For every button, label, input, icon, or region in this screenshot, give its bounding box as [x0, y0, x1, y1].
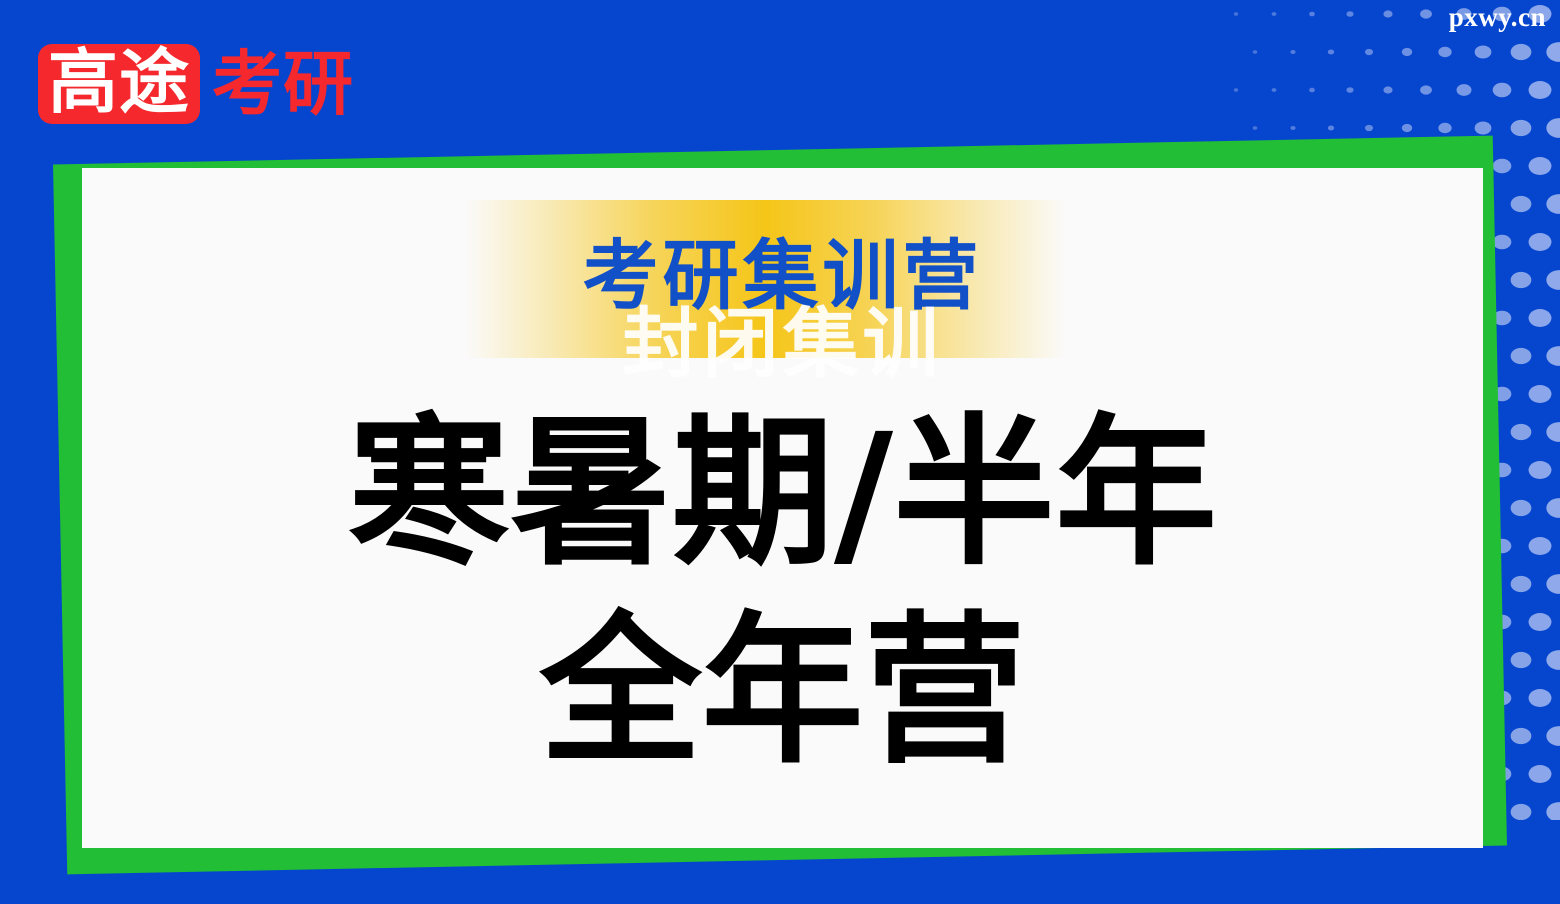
headline-block: 寒暑期/半年 全年营	[82, 396, 1483, 791]
brand-badge: 高途	[38, 44, 200, 124]
headline-line-2: 全年营	[82, 594, 1483, 792]
ghost-echo-title: 封闭集训	[82, 306, 1483, 382]
brand-word-label: 考研	[212, 51, 354, 118]
headline-line-1: 寒暑期/半年	[82, 396, 1483, 594]
brand-badge-label: 高途	[48, 49, 190, 116]
site-watermark: pxwy.cn	[1449, 4, 1546, 31]
poster-root: pxwy.cn 高途 考研 考研集训营 封闭集训 寒暑期/半年 全年营	[0, 0, 1560, 904]
content-card: 考研集训营 封闭集训 寒暑期/半年 全年营	[82, 168, 1483, 848]
brand-logo: 高途 考研	[38, 44, 354, 124]
